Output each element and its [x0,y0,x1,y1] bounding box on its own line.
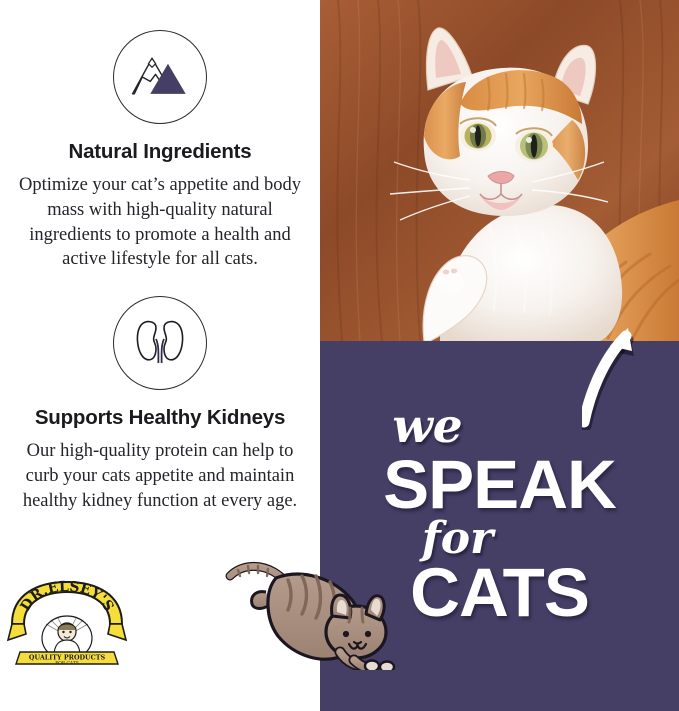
svg-text:FOR CATS: FOR CATS [55,662,79,667]
pouncing-cat-illustration [216,548,396,670]
mountain-icon [113,30,207,124]
curved-arrow-icon [582,318,678,430]
feature-body: Optimize your cat’s appetite and body ma… [17,173,303,272]
product-feature-graphic: Natural Ingredients Optimize your cat’s … [0,0,679,711]
svg-text:QUALITY PRODUCTS: QUALITY PRODUCTS [29,654,106,662]
feature-natural-ingredients: Natural Ingredients Optimize your cat’s … [0,30,320,272]
cat-photo [320,0,679,341]
dr-elseys-logo: DR.ELSEY'S QUALITY PRODUCTS FOR CATS [6,578,128,670]
kidneys-icon [113,296,207,390]
feature-title: Natural Ingredients [0,140,320,164]
